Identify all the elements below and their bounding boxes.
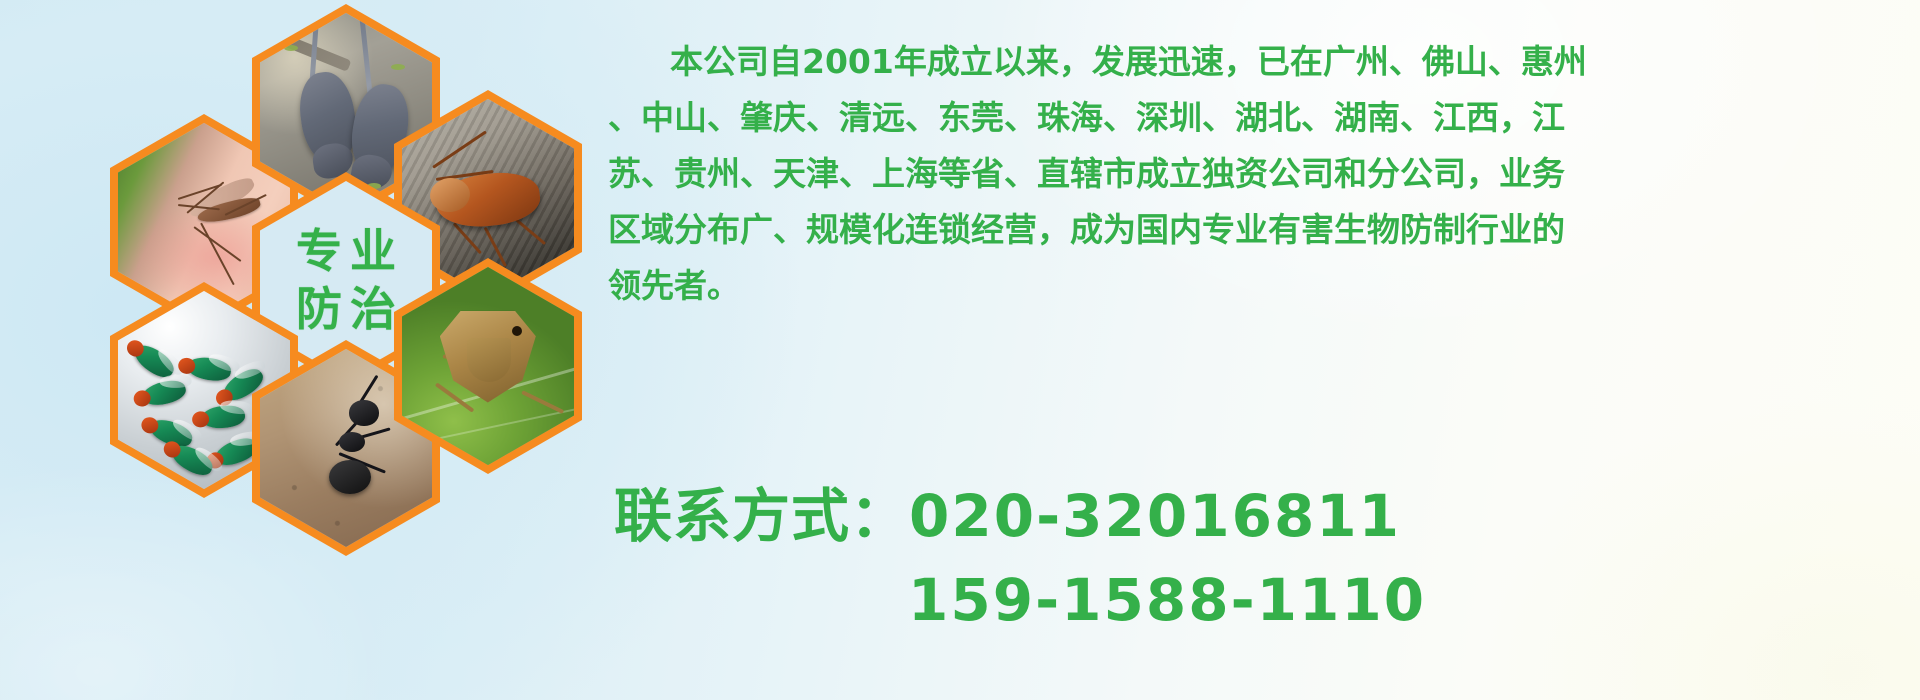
contact-mobile-row: 159-1588-1110: [614, 558, 1914, 642]
intro-line-1: 本公司自2001年成立以来，发展迅速，已在广州、佛山、惠州: [608, 34, 1908, 90]
phone-landline[interactable]: 020-32016811: [909, 482, 1401, 550]
intro-line-5: 领先者。: [608, 258, 1908, 314]
honeycomb-collage: 专业 防治: [86, 0, 606, 564]
intro-line-3: 苏、贵州、天津、上海等省、直辖市成立独资公司和分公司，业务: [608, 146, 1908, 202]
slogan-line-2: 防治: [288, 286, 404, 332]
intro-line-4: 区域分布广、规模化连锁经营，成为国内专业有害生物防制行业的: [608, 202, 1908, 258]
contact-label: 联系方式：: [614, 482, 909, 550]
company-intro-paragraph: 本公司自2001年成立以来，发展迅速，已在广州、佛山、惠州 、中山、肇庆、清远、…: [608, 34, 1908, 314]
stinkbug-photo: [402, 267, 574, 465]
phone-mobile[interactable]: 159-1588-1110: [908, 566, 1426, 634]
slogan-line-1: 专业: [288, 228, 404, 274]
contact-block: 联系方式：020-32016811 159-1588-1110: [614, 474, 1914, 642]
intro-line-2: 、中山、肇庆、清远、东莞、珠海、深圳、湖北、湖南、江西，江: [608, 90, 1908, 146]
contact-landline-row: 联系方式：020-32016811: [614, 474, 1914, 558]
promo-banner: 专业 防治: [0, 0, 1920, 700]
